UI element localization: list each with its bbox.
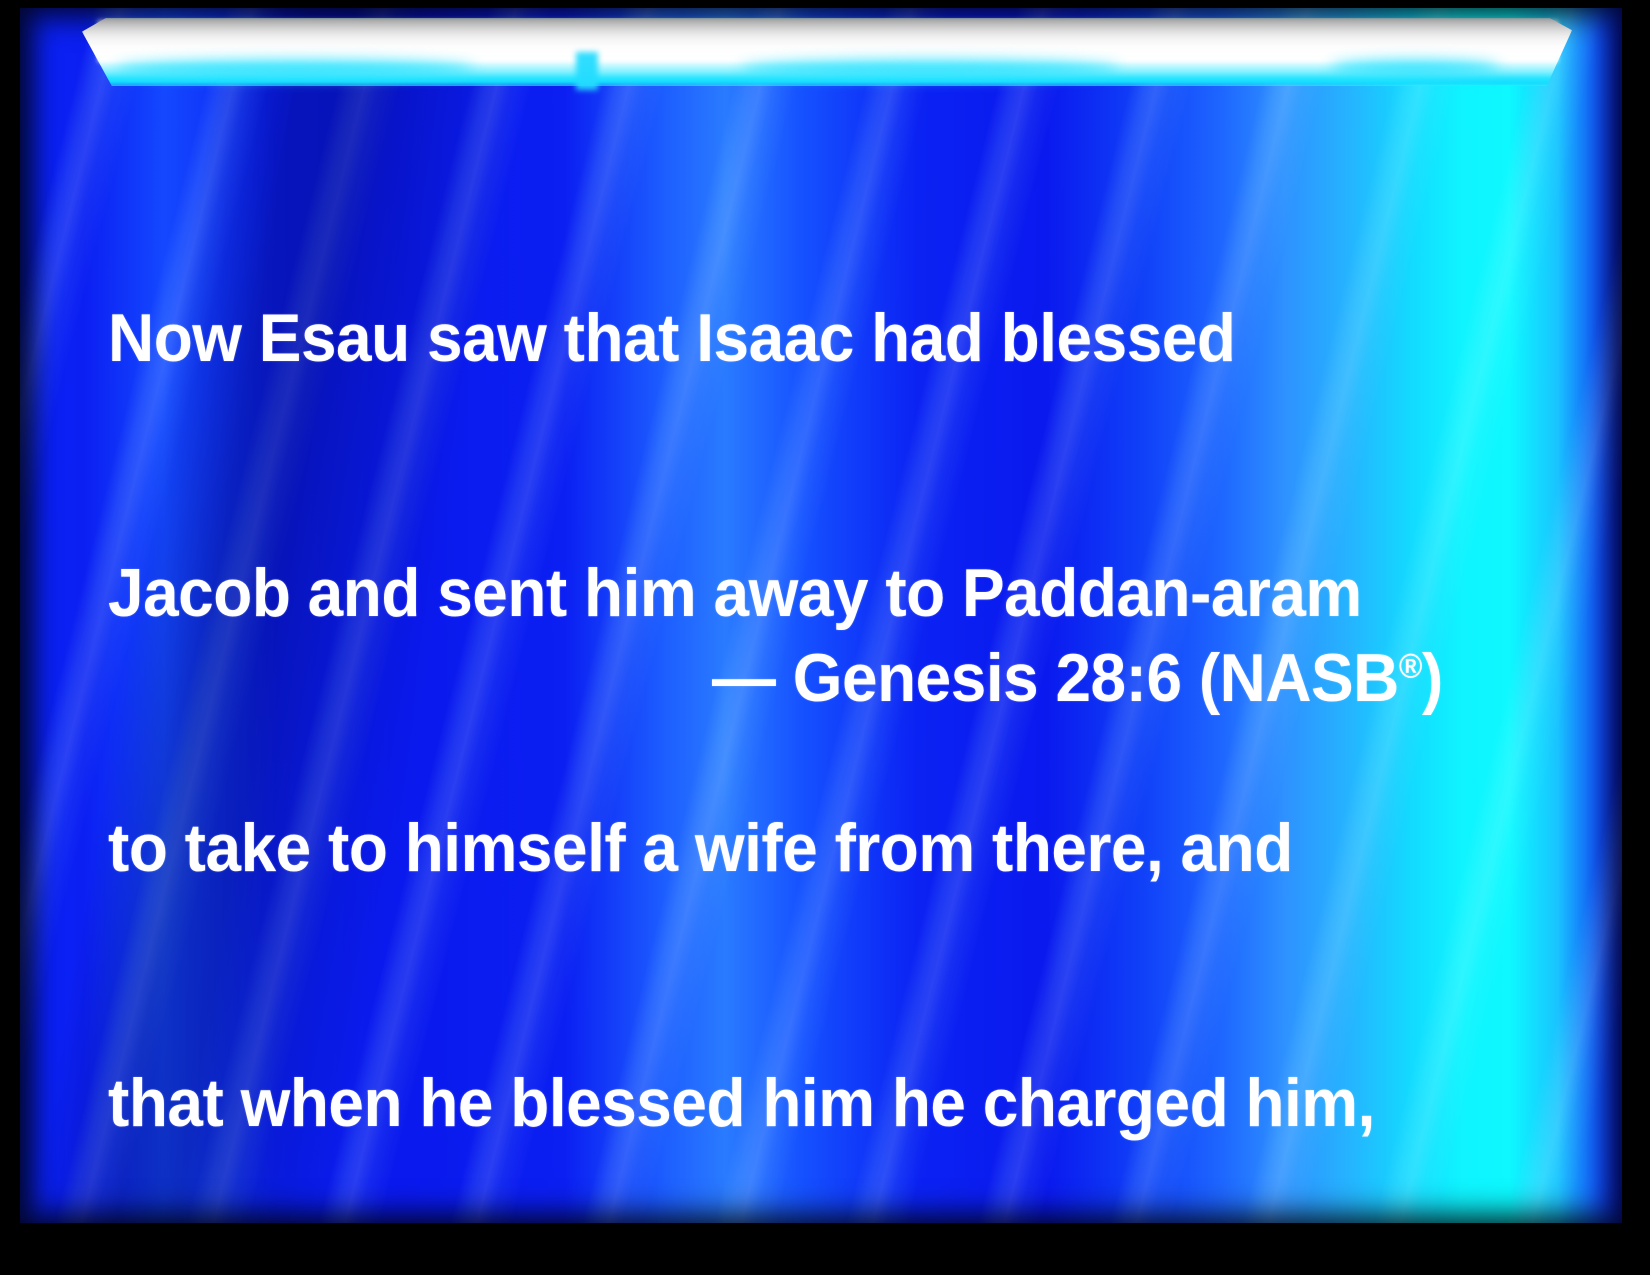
verse-line-4: that when he blessed him he charged him, — [108, 1061, 1443, 1146]
citation-prefix: — Genesis 28:6 (NASB — [712, 640, 1399, 716]
verse-line-1: Now Esau saw that Isaac had blessed — [108, 296, 1443, 381]
registered-trademark-icon: ® — [1399, 647, 1422, 685]
header-glow-blob-right — [1330, 60, 1500, 76]
verse-slide: Now Esau saw that Isaac had blessed Jaco… — [0, 0, 1650, 1275]
header-glow-blob-left — [115, 60, 475, 78]
header-glow-band-core — [98, 20, 1558, 62]
verse-citation: — Genesis 28:6 (NASB®) — [108, 636, 1443, 721]
verse-line-3: to take to himself a wife from there, an… — [108, 806, 1443, 891]
header-glow-notch — [576, 52, 598, 90]
header-glow-blob-center — [740, 60, 1120, 78]
verse-line-2: Jacob and sent him away to Paddan-aram — [108, 551, 1443, 636]
slide-canvas: Now Esau saw that Isaac had blessed Jaco… — [20, 8, 1622, 1223]
citation-suffix: ) — [1422, 640, 1443, 716]
